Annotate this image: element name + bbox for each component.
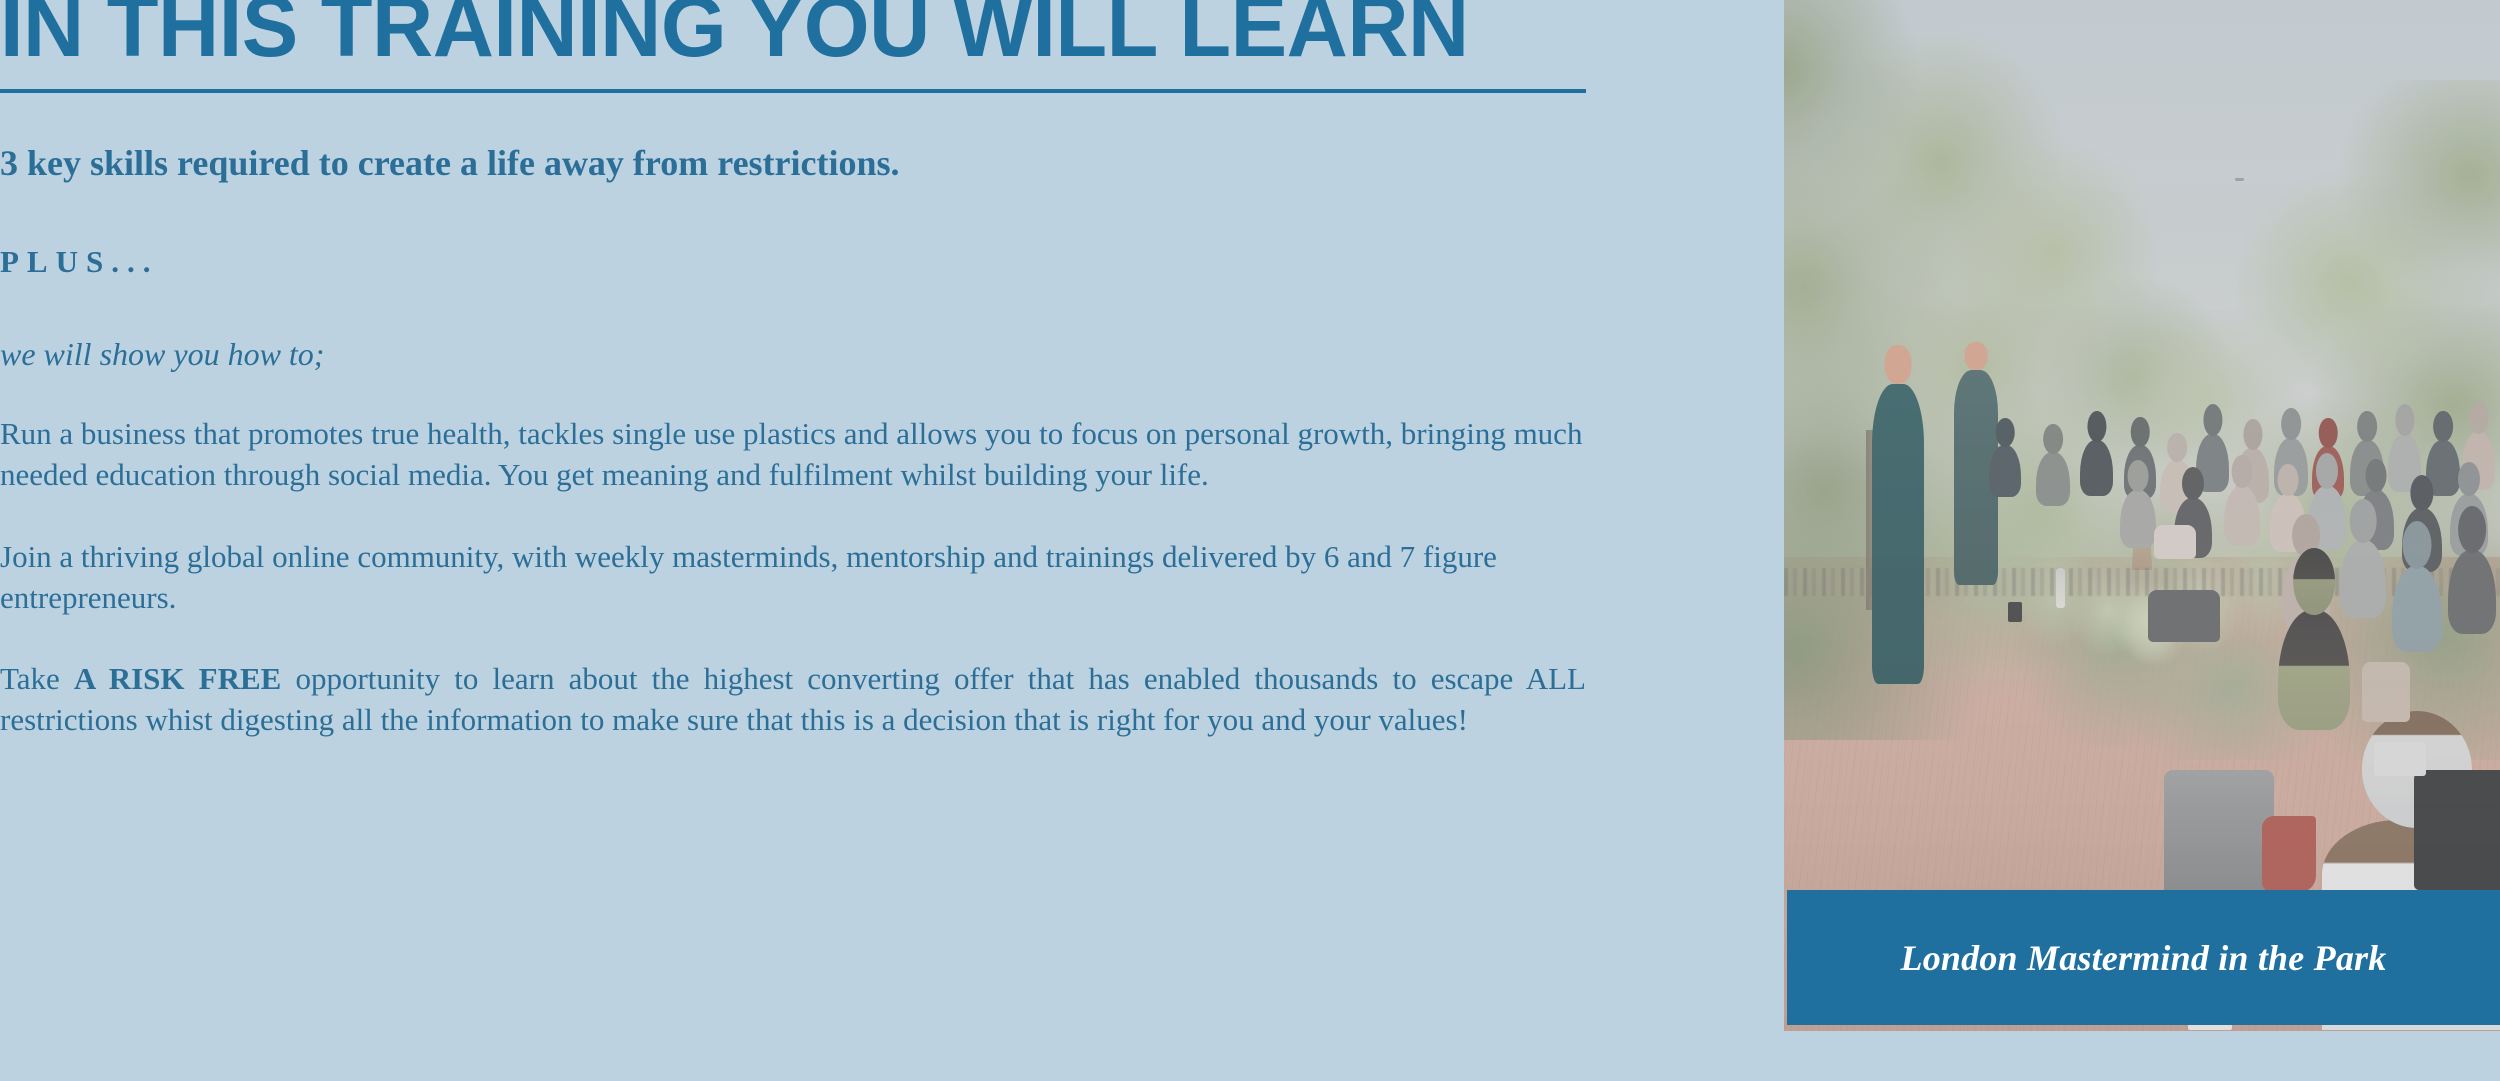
cup	[2008, 602, 2022, 622]
person	[2120, 490, 2156, 548]
notebook	[2374, 742, 2426, 776]
content-column: IN THIS TRAINING YOU WILL LEARN 3 key sk…	[0, 0, 1588, 1081]
photo-scene: RISE	[1784, 0, 2500, 1031]
person-reading	[2278, 610, 2350, 730]
backpack	[2414, 770, 2500, 890]
person	[2448, 550, 2496, 634]
backpack	[2154, 525, 2196, 559]
person	[2392, 566, 2442, 652]
person	[1989, 445, 2021, 497]
photo-caption-text: London Mastermind in the Park	[1901, 937, 2387, 979]
water-bottle	[2056, 568, 2065, 608]
person	[2340, 540, 2386, 618]
body-paragraph-1: Run a business that promotes true health…	[0, 413, 1586, 495]
lead-italic-text: we will show you how to;	[0, 336, 1586, 373]
person	[2224, 486, 2260, 546]
page-title: IN THIS TRAINING YOU WILL LEARN	[0, 0, 1562, 67]
final-paragraph-prefix: Take	[0, 661, 74, 696]
body-paragraph-3: Take A RISK FREE opportunity to learn ab…	[0, 658, 1586, 740]
person	[2080, 440, 2113, 496]
subheading: 3 key skills required to create a life a…	[0, 141, 1586, 186]
final-paragraph-emphasis: A RISK FREE	[74, 661, 281, 696]
body-paragraph-2: Join a thriving global online community,…	[0, 536, 1586, 618]
tote-bag	[2362, 662, 2410, 722]
backpack	[2148, 590, 2220, 642]
jacket	[2262, 816, 2316, 892]
photo-caption-bar: London Mastermind in the Park	[1787, 890, 2500, 1025]
standing-person-1	[1872, 384, 1924, 684]
park-photo: RISE	[1784, 0, 2500, 1031]
plus-label: PLUS...	[0, 244, 1586, 280]
headline-divider	[0, 89, 1586, 93]
person	[2036, 452, 2070, 506]
